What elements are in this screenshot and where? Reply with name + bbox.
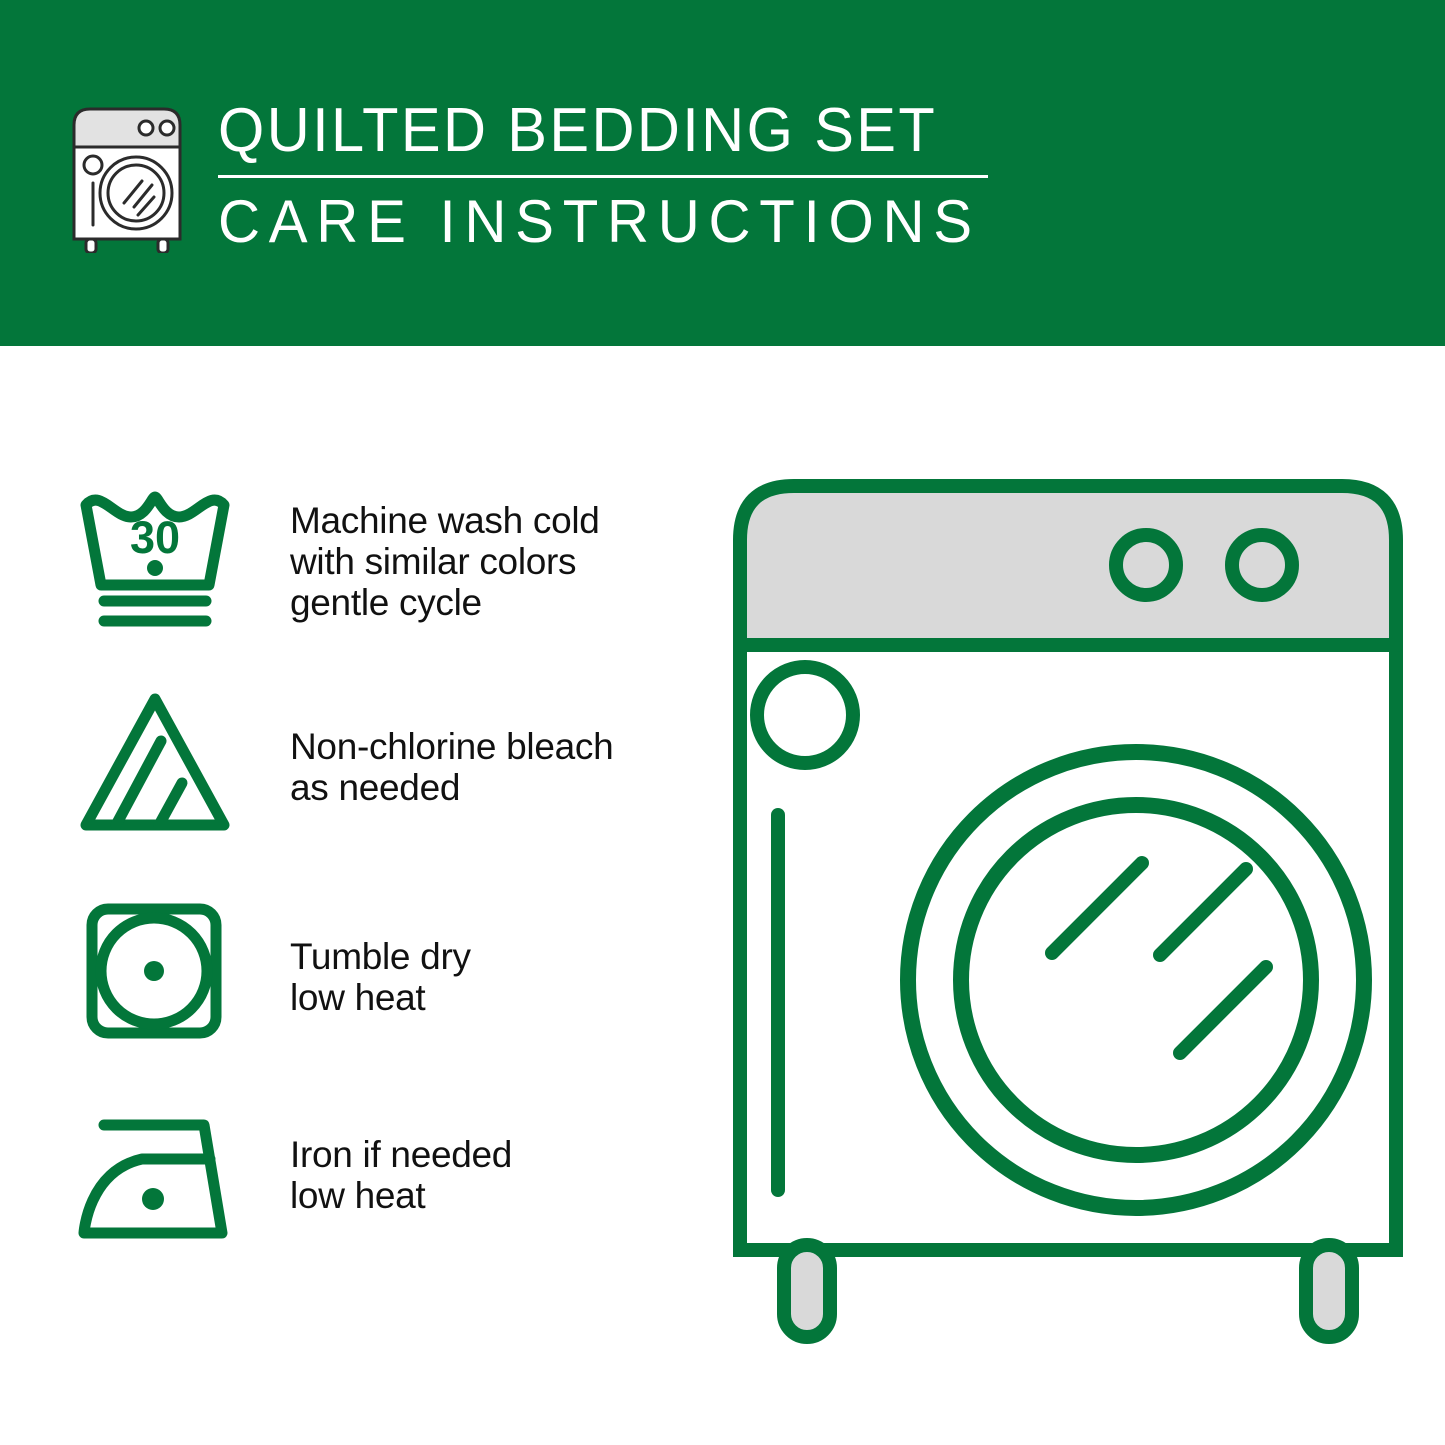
page-title: QUILTED BEDDING SET	[218, 95, 973, 167]
non-chlorine-bleach-triangle-icon	[70, 678, 240, 848]
care-label-machine-wash: Machine wash cold with similar colors ge…	[290, 470, 600, 623]
large-washing-machine-illustration	[718, 470, 1418, 1370]
power-button	[757, 667, 853, 763]
care-label-iron: Iron if needed low heat	[290, 1094, 512, 1216]
iron-low-heat-icon	[70, 1094, 240, 1264]
care-row-machine-wash: 30 Machine wash cold with similar colors…	[70, 470, 690, 678]
care-row-iron: Iron if needed low heat	[70, 1094, 690, 1302]
care-label-tumble-dry: Tumble dry low heat	[290, 886, 471, 1018]
tumble-dry-low-heat-icon	[70, 886, 240, 1056]
control-knob-2	[1232, 535, 1292, 595]
care-instruction-list: 30 Machine wash cold with similar colors…	[70, 470, 690, 1302]
page-subtitle: CARE INSTRUCTIONS	[218, 188, 981, 256]
control-knob-1	[1116, 535, 1176, 595]
washing-machine-icon	[68, 103, 186, 253]
header-inner: QUILTED BEDDING SET CARE INSTRUCTIONS	[68, 95, 1068, 270]
wash-tub-30-gentle-icon: 30	[70, 470, 240, 640]
care-row-bleach: Non-chlorine bleach as needed	[70, 678, 690, 886]
title-divider	[218, 175, 988, 178]
care-row-tumble-dry: Tumble dry low heat	[70, 886, 690, 1094]
header-band: QUILTED BEDDING SET CARE INSTRUCTIONS	[0, 0, 1445, 346]
wash-temperature-value: 30	[130, 512, 180, 563]
leg-left	[784, 1245, 830, 1337]
care-instructions-page: QUILTED BEDDING SET CARE INSTRUCTIONS 30	[0, 0, 1445, 1445]
header-text-block: QUILTED BEDDING SET CARE INSTRUCTIONS	[218, 95, 1004, 256]
care-label-bleach: Non-chlorine bleach as needed	[290, 678, 613, 808]
leg-right	[1306, 1245, 1352, 1337]
